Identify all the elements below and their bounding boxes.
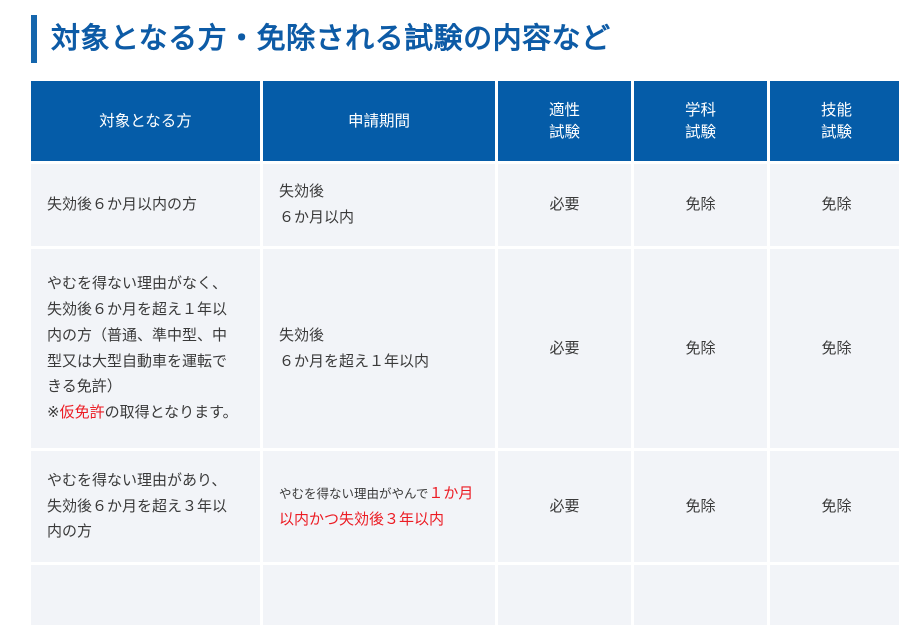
cell-period-line1: 失効後: [279, 323, 479, 349]
cell-aptitude: 必要: [498, 451, 631, 562]
page-title: 対象となる方・免除される試験の内容など: [51, 23, 611, 55]
cell-target-line3: 内の方: [47, 519, 244, 545]
table-row: やむを得ない理由があり、 失効後６か月を超え３年以 内の方 やむを得ない理由がや…: [31, 451, 899, 562]
cell-aptitude: 必要: [498, 249, 631, 448]
column-header-target-label: 対象となる方: [99, 112, 192, 130]
column-header-aptitude-line2: 試験: [504, 121, 625, 143]
column-header-aptitude-line1: 適性: [504, 99, 625, 121]
column-header-skill-line1: 技能: [776, 99, 897, 121]
section-heading: 対象となる方・免除される試験の内容など: [0, 0, 899, 78]
cell-target-note: ※仮免許の取得となります。: [47, 400, 244, 426]
cell-written: [634, 565, 767, 625]
cell-aptitude: 必要: [498, 164, 631, 246]
cell-target-line4: 型又は大型自動車を運転で: [47, 349, 244, 375]
cell-period: 失効後 ６か月以内: [263, 164, 495, 246]
cell-target-line5: きる免許）: [47, 374, 244, 400]
cell-skill: 免除: [770, 451, 899, 562]
column-header-target: 対象となる方: [31, 81, 260, 161]
table-body: 失効後６か月以内の方 失効後 ６か月以内 必要 免除 免除 やむを得ない理由がな…: [31, 164, 899, 625]
table-row: 失効後６か月以内の方 失効後 ６か月以内 必要 免除 免除: [31, 164, 899, 246]
cell-target: やむを得ない理由がなく、 失効後６か月を超え１年以 内の方（普通、準中型、中 型…: [31, 249, 260, 448]
cell-target-line1: やむを得ない理由がなく、: [47, 271, 244, 297]
cell-target: [31, 565, 260, 625]
cell-written: 免除: [634, 249, 767, 448]
cell-written: 免除: [634, 451, 767, 562]
column-header-aptitude: 適性 試験: [498, 81, 631, 161]
cell-period-line2: ６か月を超え１年以内: [279, 349, 479, 375]
cell-skill: [770, 565, 899, 625]
cell-period: やむを得ない理由がやんで１か月以内かつ失効後３年以内: [263, 451, 495, 562]
cell-target-line3: 内の方（普通、準中型、中: [47, 323, 244, 349]
table-row: [31, 565, 899, 625]
column-header-period-label: 申請期間: [348, 112, 410, 130]
table-row: やむを得ない理由がなく、 失効後６か月を超え１年以 内の方（普通、準中型、中 型…: [31, 249, 899, 448]
cell-written: 免除: [634, 164, 767, 246]
cell-period: 失効後 ６か月を超え１年以内: [263, 249, 495, 448]
cell-target-line2: 失効後６か月を超え１年以: [47, 297, 244, 323]
column-header-skill-line2: 試験: [776, 121, 897, 143]
column-header-period: 申請期間: [263, 81, 495, 161]
exemption-table: 対象となる方 申請期間 適性 試験 学科 試験 技能 試験: [28, 78, 899, 628]
note-prefix: ※: [47, 403, 60, 421]
table-container: 対象となる方 申請期間 適性 試験 学科 試験 技能 試験: [0, 78, 899, 628]
cell-skill: 免除: [770, 164, 899, 246]
cell-target-line: 失効後６か月以内の方: [47, 192, 244, 218]
cell-period-line1: 失効後: [279, 179, 479, 205]
cell-target-line2: 失効後６か月を超え３年以: [47, 494, 244, 520]
note-highlight: 仮免許: [60, 403, 105, 421]
heading-accent-bar: [31, 15, 37, 63]
cell-target: 失効後６か月以内の方: [31, 164, 260, 246]
cell-period-line2: ６か月以内: [279, 205, 479, 231]
table-header-row: 対象となる方 申請期間 適性 試験 学科 試験 技能 試験: [31, 81, 899, 161]
note-suffix: の取得となります。: [105, 403, 238, 421]
column-header-written: 学科 試験: [634, 81, 767, 161]
column-header-written-line2: 試験: [640, 121, 761, 143]
table-header: 対象となる方 申請期間 適性 試験 学科 試験 技能 試験: [31, 81, 899, 161]
cell-skill: 免除: [770, 249, 899, 448]
column-header-skill: 技能 試験: [770, 81, 899, 161]
cell-period-small-note: やむを得ない理由がやんで: [279, 486, 428, 501]
column-header-written-line1: 学科: [640, 99, 761, 121]
cell-target-line1: やむを得ない理由があり、: [47, 468, 244, 494]
cell-period: [263, 565, 495, 625]
cell-aptitude: [498, 565, 631, 625]
cell-target: やむを得ない理由があり、 失効後６か月を超え３年以 内の方: [31, 451, 260, 562]
